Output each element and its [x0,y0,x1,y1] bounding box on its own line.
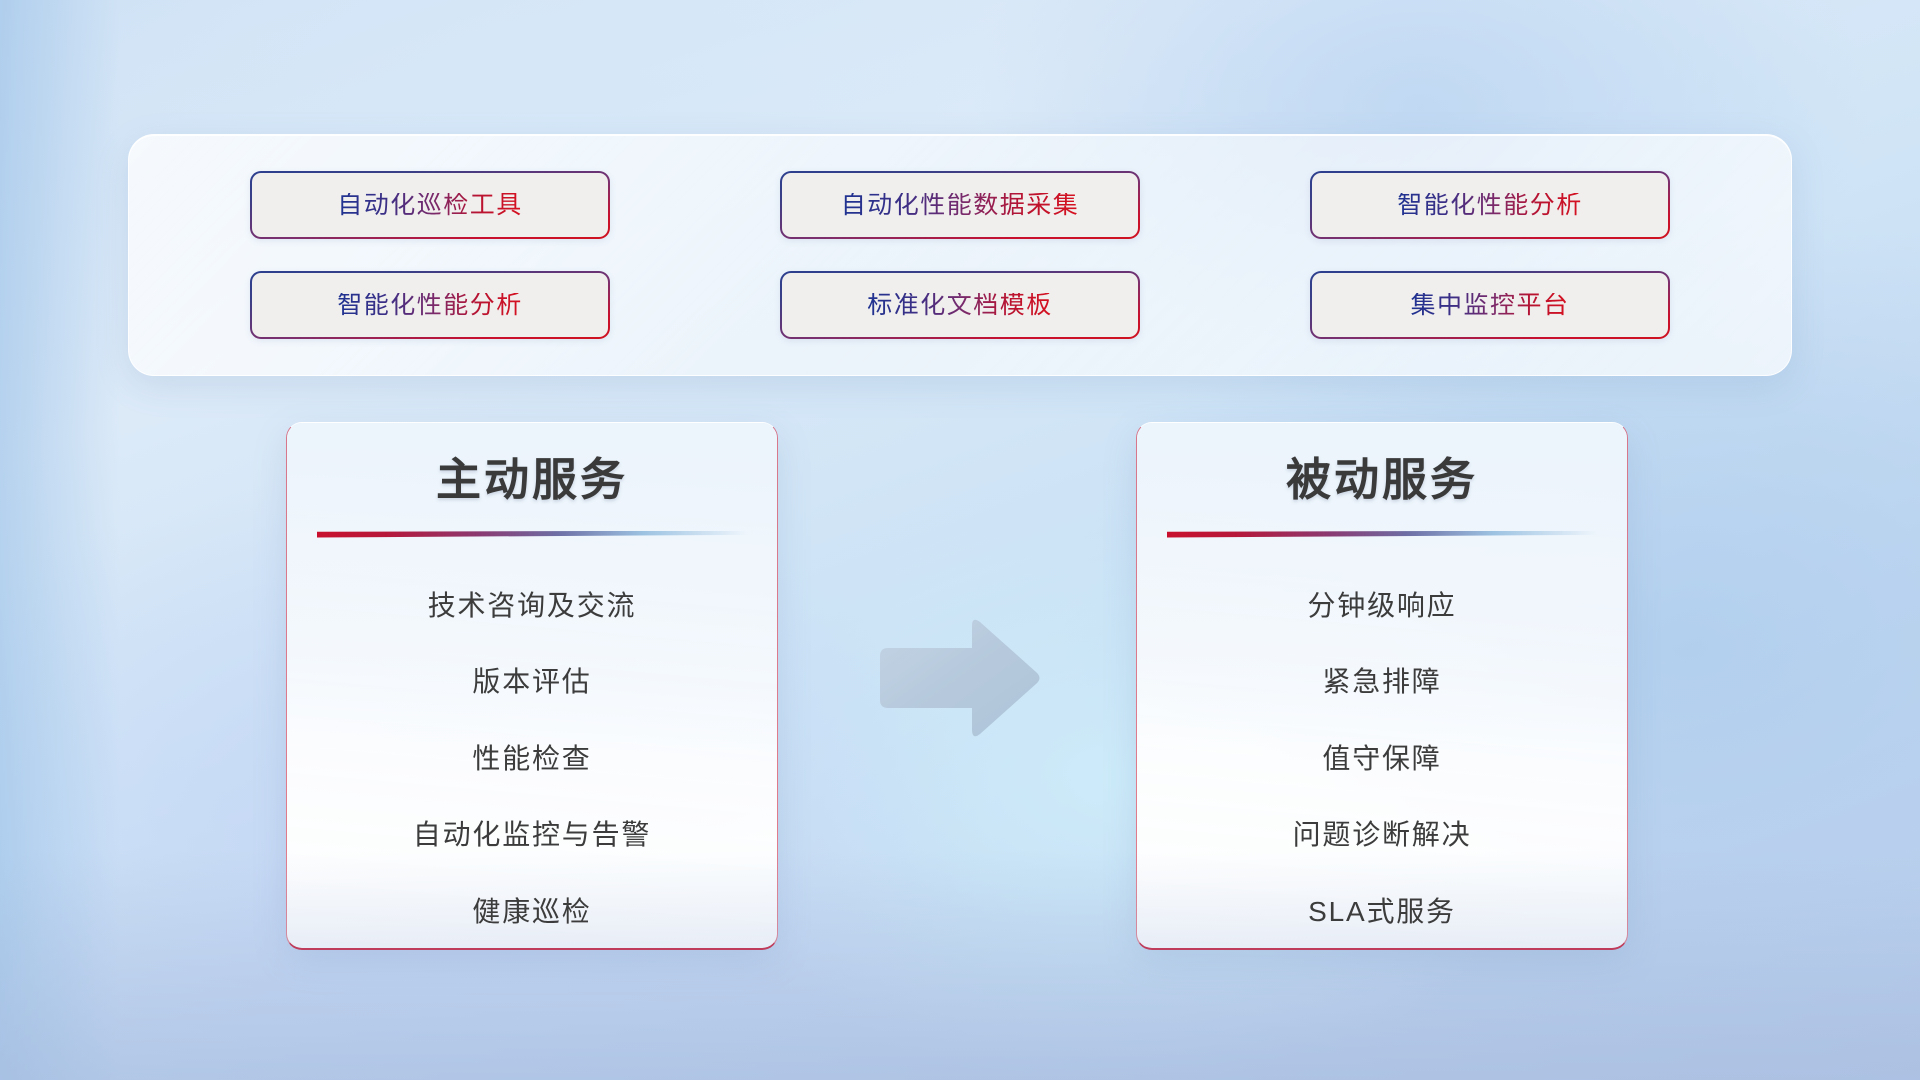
list-item: 性能检查 [287,719,777,796]
list-item: 健康巡检 [287,872,777,949]
passive-service-title: 被动服务 [1286,455,1478,505]
title-underline-rule [1167,531,1597,538]
arrow-right-icon [874,614,1044,742]
capability-chip-label: 智能化性能分析 [337,293,523,318]
capability-chip[interactable]: 自动化巡检工具 [250,171,610,239]
passive-service-card: 被动服务 分钟级响应 紧急排障 值守保障 问题诊断解决 SLA式服务 [1136,422,1628,950]
list-item: 版本评估 [287,642,777,719]
list-item: 自动化监控与告警 [287,795,777,872]
active-service-card: 主动服务 技术咨询及交流 版本评估 性能检查 自动化监控与告警 健康巡检 [286,422,778,950]
capability-chip[interactable]: 智能化性能分析 [1310,171,1670,239]
list-item: 问题诊断解决 [1137,795,1627,872]
active-service-title: 主动服务 [436,455,628,505]
title-underline-rule [317,531,747,538]
list-item: 分钟级响应 [1137,566,1627,643]
capability-chip[interactable]: 标准化文档模板 [780,271,1140,339]
capability-chip-label: 自动化巡检工具 [337,193,523,218]
slide-canvas: 自动化巡检工具 自动化性能数据采集 智能化性能分析 智能化性能分析 标准化文档模… [0,0,1920,1080]
list-item: SLA式服务 [1137,872,1627,949]
capability-chip[interactable]: 自动化性能数据采集 [780,171,1140,239]
capability-chip-label: 标准化文档模板 [867,293,1053,318]
list-item: 紧急排障 [1137,642,1627,719]
capability-panel: 自动化巡检工具 自动化性能数据采集 智能化性能分析 智能化性能分析 标准化文档模… [128,134,1792,376]
capability-chip-label: 自动化性能数据采集 [841,193,1080,218]
capability-chip-label: 智能化性能分析 [1397,193,1583,218]
list-item: 技术咨询及交流 [287,566,777,643]
capability-chip[interactable]: 集中监控平台 [1310,271,1670,339]
list-item: 值守保障 [1137,719,1627,796]
passive-service-list: 分钟级响应 紧急排障 值守保障 问题诊断解决 SLA式服务 [1137,566,1627,949]
capability-chip[interactable]: 智能化性能分析 [250,271,610,339]
capability-chip-label: 集中监控平台 [1410,293,1569,318]
active-service-list: 技术咨询及交流 版本评估 性能检查 自动化监控与告警 健康巡检 [287,566,777,949]
